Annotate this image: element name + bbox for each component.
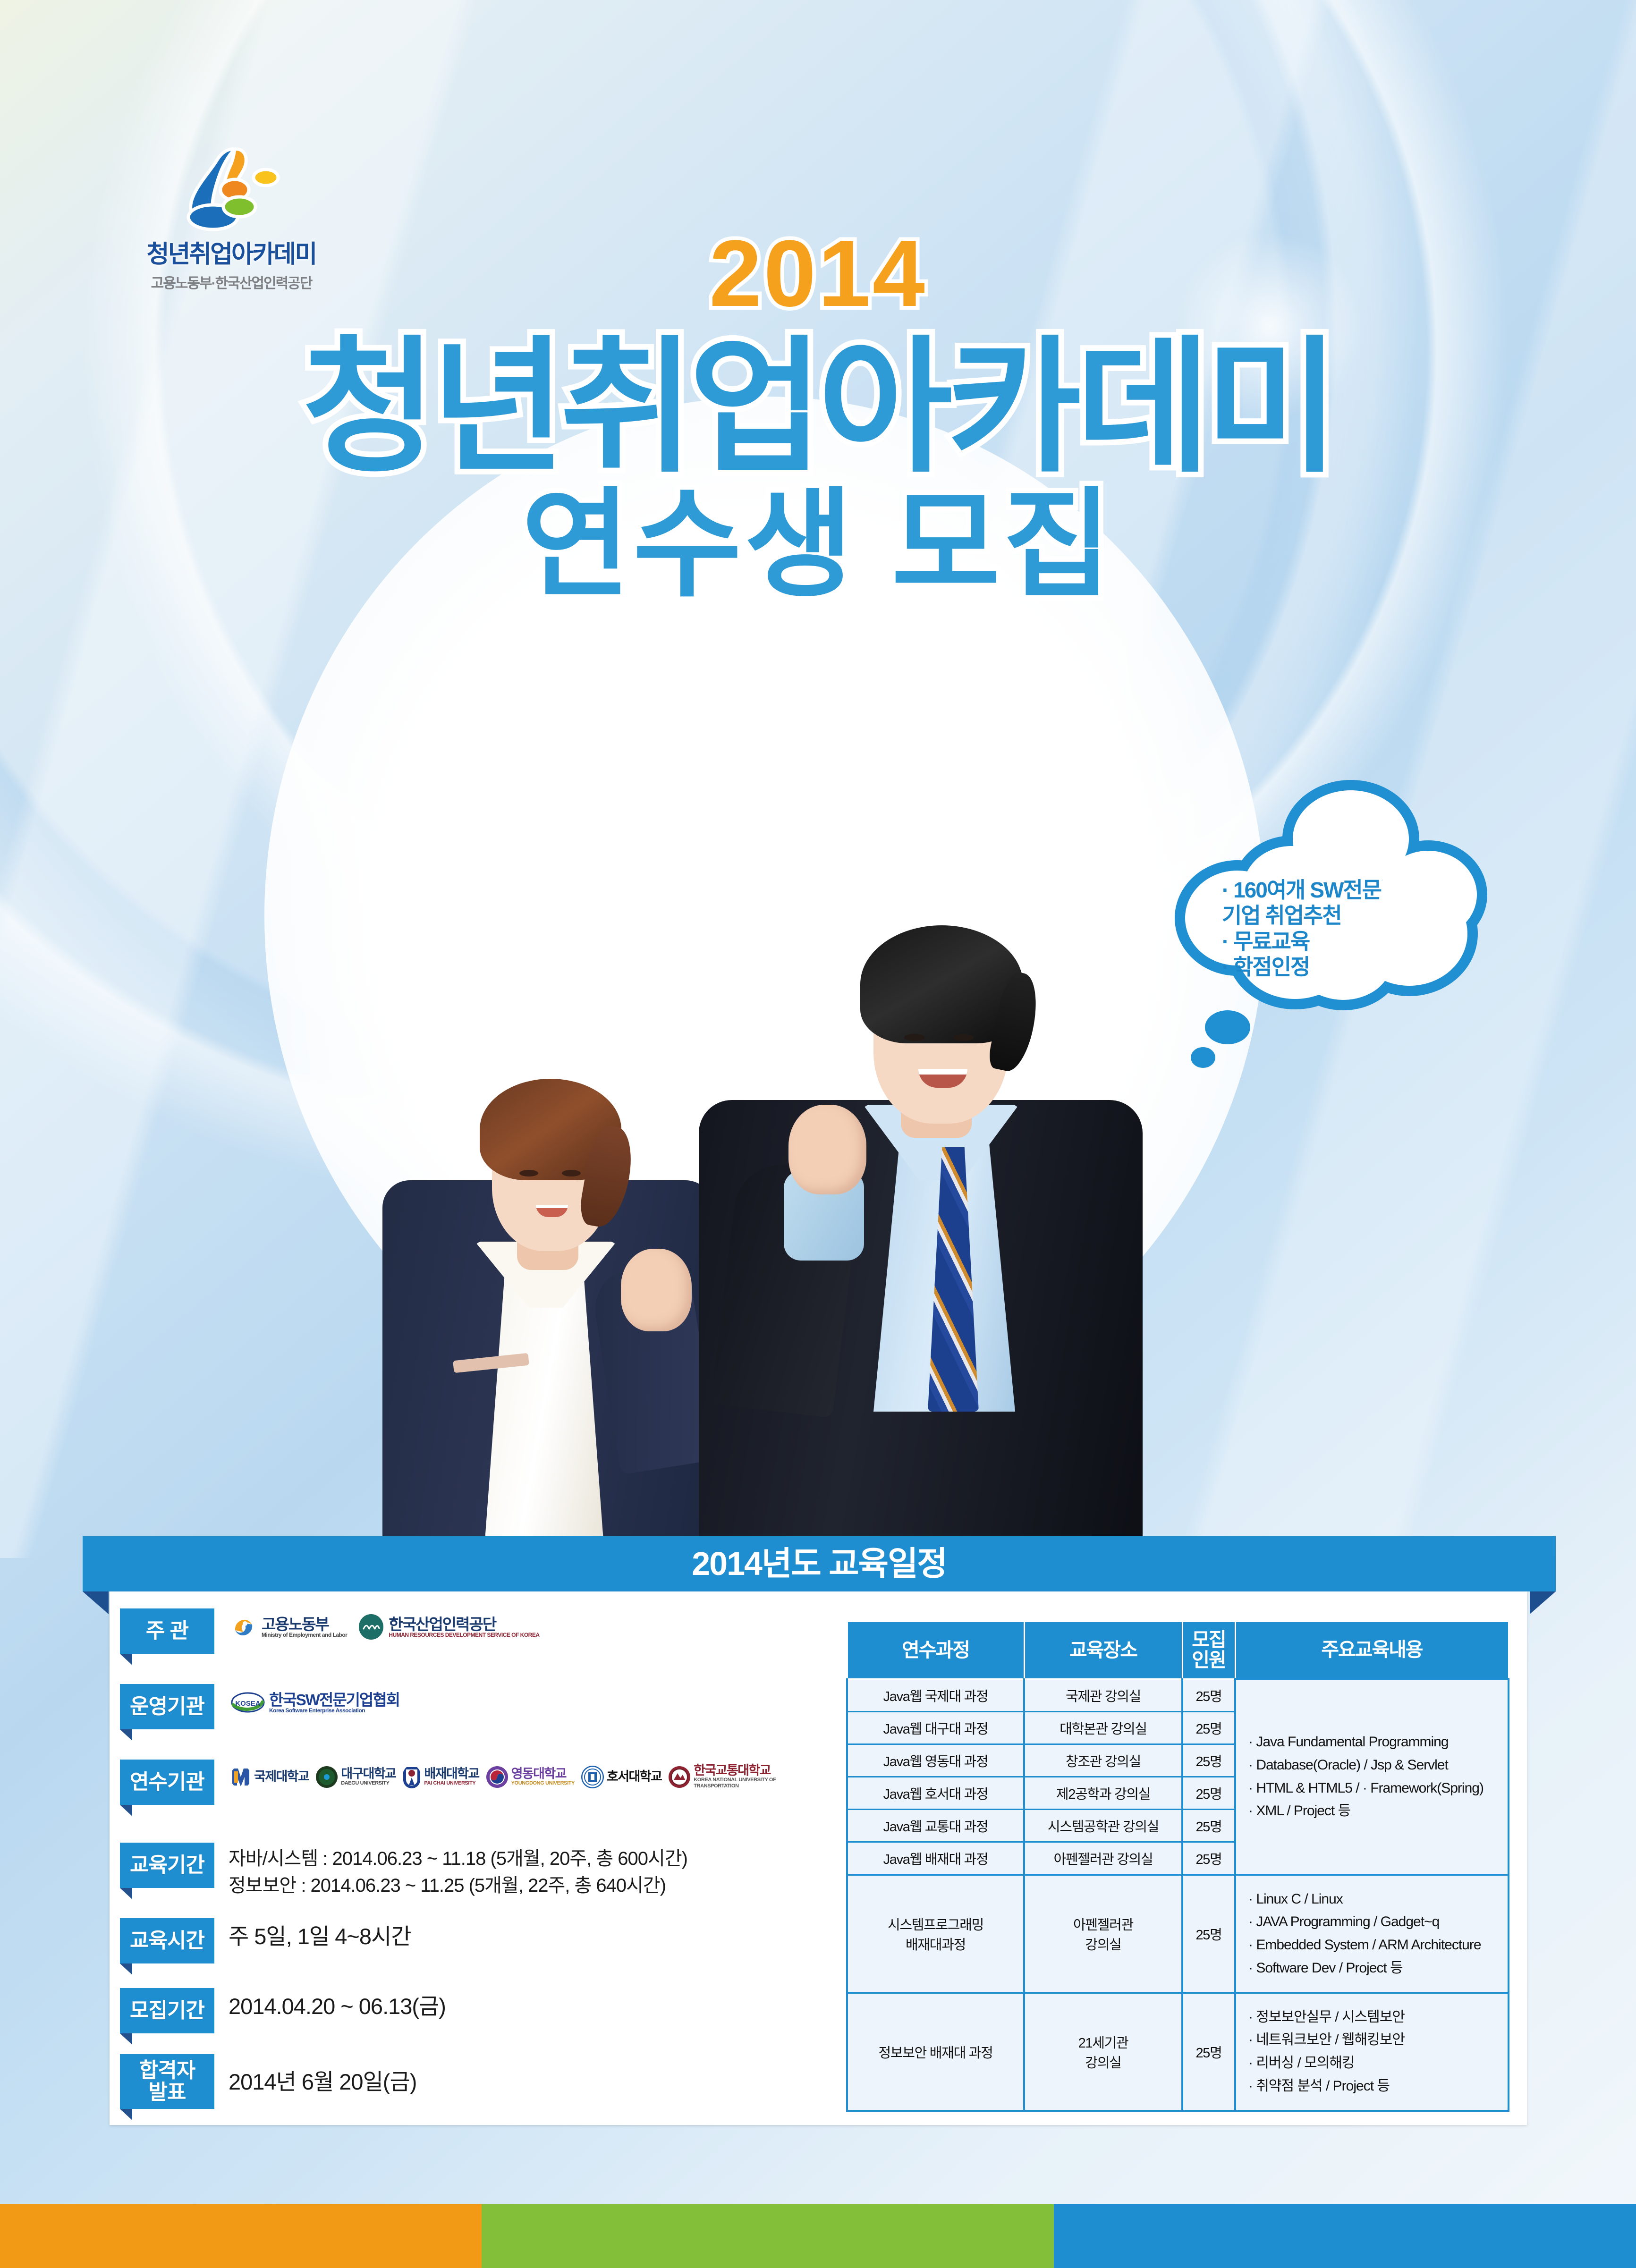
th-capacity: 모집 인원 [1182, 1622, 1235, 1679]
bubble-line-1: 기업 취업추천 [1222, 903, 1425, 928]
education-hours-value: 주 5일, 1일 4~8시간 [229, 1918, 411, 1953]
results-announcement-value: 2014년 6월 20일(금) [229, 2054, 416, 2098]
content-system-2: · Embedded System / ARM Architecture [1248, 1934, 1505, 1957]
students-photo [368, 741, 1199, 1553]
headline-main: 청년취업아카데미 [0, 330, 1636, 484]
content-java-1: · Database(Oracle) / Jsp & Servlet [1248, 1754, 1505, 1777]
info-row-education-period-label: 교육기간 [120, 1843, 214, 1888]
thought-bubble: · 160여개 SW전문 기업 취업추천 · 무료교육 · 학점인정 [1166, 770, 1478, 1072]
logo-kosea: KOSEA 한국SW전문기업협회 Korea Software Enterpri… [230, 1689, 399, 1716]
info-row-education-hours: 교육시간 주 5일, 1일 4~8시간 [120, 1918, 411, 1963]
poster-headline: 2014 청년취업아카데미 연수생 모집 [0, 227, 1636, 609]
person-male [670, 779, 1166, 1553]
academy-swoosh-logo-icon [168, 142, 295, 231]
cell-place: 국제관 강의실 [1024, 1679, 1182, 1711]
content-java-2: · HTML & HTML5 / · Framework(Spring) [1248, 1777, 1505, 1800]
table-header-row: 연수과정 교육장소 모집 인원 주요교육내용 [847, 1622, 1509, 1679]
schedule-header-banner: 2014년도 교육일정 [83, 1536, 1556, 1591]
cell-place-line-2: 강의실 [1028, 2052, 1178, 2072]
info-row-operator-label: 운영기관 [120, 1684, 214, 1729]
logo-hrd-korea: 한국산업인력공단 HUMAN RESOURCES DEVELOPMENT SER… [357, 1613, 539, 1641]
cell-course: Java웹 배재대 과정 [847, 1842, 1024, 1875]
kookje-seal-icon [230, 1766, 251, 1788]
info-row-operator: 운영기관 KOSEA 한국SW전문기업협회 Korea Software Ent… [120, 1684, 399, 1729]
cell-course: Java웹 대구대 과정 [847, 1711, 1024, 1744]
table-row: 정보보안 배재대 과정 21세기관 강의실 25명 · 정보보안실무 / 시스템… [847, 1993, 1509, 2111]
cell-course-line-1: 정보보안 배재대 과정 [851, 2042, 1020, 2062]
transportation-seal-icon [668, 1766, 691, 1788]
uni-3-en: YOUNGDONG UNIVERSITY [511, 1780, 575, 1786]
info-row-training-institutions: 연수기관 국제대학교 [120, 1760, 802, 1805]
info-row-training-label: 연수기관 [120, 1760, 214, 1805]
info-row-education-period: 교육기간 자바/시스템 : 2014.06.23 ~ 11.18 (5개월, 2… [120, 1843, 687, 1899]
headline-year: 2014 [0, 227, 1636, 321]
uni-0-name: 국제대학교 [254, 1770, 309, 1783]
bubble-line-3: · 학점인정 [1222, 954, 1425, 980]
info-rows: 주 관 고용노동부 Ministry of Employment and Lab… [110, 1591, 818, 2125]
paichai-seal-icon [402, 1765, 421, 1789]
logo-hrd-name: 한국산업인력공단 [389, 1616, 539, 1632]
education-period-line-0: 자바/시스템 : 2014.06.23 ~ 11.18 (5개월, 20주, 총… [229, 1845, 687, 1872]
schedule-panel: 주 관 고용노동부 Ministry of Employment and Lab… [110, 1591, 1527, 2125]
cell-place: 21세기관 강의실 [1024, 1993, 1182, 2111]
male-fist [788, 1105, 866, 1194]
uni-3-name: 영동대학교 [511, 1768, 575, 1780]
bubble-benefits-text: · 160여개 SW전문 기업 취업추천 · 무료교육 · 학점인정 [1222, 877, 1425, 980]
content-system-3: · Software Dev / Project 등 [1248, 1957, 1505, 1980]
courses-table: 연수과정 교육장소 모집 인원 주요교육내용 Java웹 국제대 과정 국제관 … [846, 1621, 1509, 2112]
hoseo-seal-icon [581, 1766, 604, 1788]
results-label-line-1: 합격자 [139, 2060, 195, 2082]
headline-sub: 연수생 모집 [0, 480, 1636, 609]
table-row: 시스템프로그래밍 배재대과정 아펜젤러관 강의실 25명 · Linux C /… [847, 1875, 1509, 1993]
cell-capacity: 25명 [1182, 1809, 1235, 1842]
cell-capacity: 25명 [1182, 1875, 1235, 1993]
cell-place: 창조관 강의실 [1024, 1744, 1182, 1777]
host-logos: 고용노동부 Ministry of Employment and Labor 한… [230, 1608, 540, 1641]
operator-logos: KOSEA 한국SW전문기업협회 Korea Software Enterpri… [230, 1684, 399, 1716]
info-row-application-period: 모집기간 2014.04.20 ~ 06.13(금) [120, 1988, 446, 2033]
th-course: 연수과정 [847, 1622, 1024, 1679]
uni-5-name: 한국교통대학교 [694, 1764, 802, 1777]
youngdong-seal-icon [486, 1766, 509, 1788]
cell-place: 시스템공학관 강의실 [1024, 1809, 1182, 1842]
uni-1-name: 대구대학교 [341, 1768, 396, 1780]
cell-place: 제2공학과 강의실 [1024, 1777, 1182, 1809]
cell-capacity: 25명 [1182, 1777, 1235, 1809]
university-logos: 국제대학교 대구대학교 DAEGU UNIVERSITY [230, 1760, 802, 1789]
logo-hoseo-university: 호서대학교 [581, 1766, 661, 1788]
svg-text:KOSEA: KOSEA [235, 1700, 261, 1708]
logo-kookje-university: 국제대학교 [230, 1766, 309, 1788]
info-row-education-hours-label: 교육시간 [120, 1918, 214, 1963]
cell-capacity: 25명 [1182, 1744, 1235, 1777]
logo-youngdong-university: 영동대학교 YOUNGDONG UNIVERSITY [486, 1766, 575, 1788]
cell-capacity: 25명 [1182, 1993, 1235, 2111]
info-row-host-label: 주 관 [120, 1608, 214, 1654]
ribbon-fold-right [1530, 1591, 1556, 1614]
cell-course-line-2: 배재대과정 [851, 1934, 1020, 1954]
cell-course: Java웹 교통대 과정 [847, 1809, 1024, 1842]
content-java-0: · Java Fundamental Programming [1248, 1731, 1505, 1754]
uni-1-en: DAEGU UNIVERSITY [341, 1780, 396, 1786]
content-security-3: · 취약점 분석 / Project 등 [1248, 2075, 1505, 2098]
logo-ministry-of-employment: 고용노동부 Ministry of Employment and Labor [230, 1613, 347, 1641]
education-period-line-1: 정보보안 : 2014.06.23 ~ 11.25 (5개월, 22주, 총 6… [229, 1872, 687, 1899]
info-row-application-period-label: 모집기간 [120, 1988, 214, 2033]
male-eye-right [953, 1034, 974, 1041]
logo-daegu-university: 대구대학교 DAEGU UNIVERSITY [315, 1766, 396, 1788]
cell-place: 대학본관 강의실 [1024, 1711, 1182, 1744]
content-system-0: · Linux C / Linux [1248, 1888, 1505, 1911]
cell-course: 정보보안 배재대 과정 [847, 1993, 1024, 2111]
logo-kosea-name: 한국SW전문기업협회 [269, 1692, 399, 1708]
footer-segment-green [482, 2204, 1054, 2268]
uni-4-name: 호서대학교 [607, 1770, 661, 1783]
daegu-seal-icon [315, 1766, 338, 1788]
content-security-2: · 리버싱 / 모의해킹 [1248, 2052, 1505, 2075]
female-eye-right [562, 1170, 581, 1176]
cell-place-line-1: 아펜젤러관 [1028, 1914, 1178, 1934]
cell-course: Java웹 영동대 과정 [847, 1744, 1024, 1777]
footer-segment-blue [1054, 2204, 1636, 2268]
logo-paichai-university: 배재대학교 PAI CHAI UNIVERSITY [402, 1765, 479, 1789]
uni-2-name: 배재대학교 [424, 1768, 479, 1780]
footer-color-bar [0, 2204, 1636, 2268]
uni-2-en: PAI CHAI UNIVERSITY [424, 1780, 479, 1786]
logo-ministry-name: 고용노동부 [262, 1616, 347, 1632]
logo-ministry-en: Ministry of Employment and Labor [262, 1632, 347, 1638]
cell-place: 아펜젤러관 강의실 [1024, 1875, 1182, 1993]
ribbon-fold-left [83, 1591, 109, 1614]
results-label-line-2: 발표 [149, 2082, 186, 2103]
th-content: 주요교육내용 [1235, 1622, 1509, 1679]
content-security-0: · 정보보안실무 / 시스템보안 [1248, 2006, 1505, 2029]
cell-place-line-2: 강의실 [1028, 1934, 1178, 1954]
content-java-3: · XML / Project 등 [1248, 1800, 1505, 1823]
th-place: 교육장소 [1024, 1622, 1182, 1679]
bubble-tail-large [1205, 1010, 1250, 1044]
cell-course: Java웹 국제대 과정 [847, 1679, 1024, 1711]
uni-5-en: KOREA NATIONAL UNIVERSITY OF TRANSPORTAT… [694, 1777, 802, 1789]
info-row-results-label: 합격자 발표 [120, 2054, 214, 2109]
th-capacity-line-2: 인원 [1185, 1650, 1233, 1670]
logo-korea-national-university-of-transportation: 한국교통대학교 KOREA NATIONAL UNIVERSITY OF TRA… [668, 1764, 802, 1789]
hrd-korea-emblem-icon [357, 1613, 385, 1641]
content-system-1: · JAVA Programming / Gadget~q [1248, 1911, 1505, 1934]
cell-place: 아펜젤러관 강의실 [1024, 1842, 1182, 1875]
poster-canvas: 청년취업아카데미 고용노동부·한국산업인력공단 2014 청년취업아카데미 연수… [0, 0, 1636, 2268]
info-row-host: 주 관 고용노동부 Ministry of Employment and Lab… [120, 1608, 540, 1654]
cell-capacity: 25명 [1182, 1711, 1235, 1744]
cell-course: Java웹 호서대 과정 [847, 1777, 1024, 1809]
table-row: Java웹 국제대 과정 국제관 강의실 25명 · Java Fundamen… [847, 1679, 1509, 1711]
cell-content-java: · Java Fundamental Programming · Databas… [1235, 1679, 1509, 1875]
footer-segment-orange [0, 2204, 482, 2268]
female-eye-left [519, 1170, 538, 1176]
cell-capacity: 25명 [1182, 1679, 1235, 1711]
ministry-emblem-icon [230, 1613, 258, 1641]
content-security-1: · 네트워크보안 / 웹해킹보안 [1248, 2029, 1505, 2052]
schedule-header-title: 2014년도 교육일정 [692, 1545, 947, 1582]
cell-content-security: · 정보보안실무 / 시스템보안 · 네트워크보안 / 웹해킹보안 · 리버싱 … [1235, 1993, 1509, 2111]
cell-course: 시스템프로그래밍 배재대과정 [847, 1875, 1024, 1993]
kosea-emblem-icon: KOSEA [230, 1689, 265, 1716]
bubble-tail-small [1191, 1047, 1215, 1068]
th-capacity-line-1: 모집 [1185, 1630, 1233, 1650]
info-row-results-announcement: 합격자 발표 2014년 6월 20일(금) [120, 2054, 416, 2109]
education-period-value: 자바/시스템 : 2014.06.23 ~ 11.18 (5개월, 20주, 총… [229, 1843, 687, 1899]
cell-content-system: · Linux C / Linux · JAVA Programming / G… [1235, 1875, 1509, 1993]
cell-place-line-1: 21세기관 [1028, 2032, 1178, 2052]
male-eye-left [904, 1034, 925, 1041]
cell-capacity: 25명 [1182, 1842, 1235, 1875]
bubble-line-0: · 160여개 SW전문 [1222, 877, 1425, 903]
application-period-value: 2014.04.20 ~ 06.13(금) [229, 1988, 446, 2023]
logo-hrd-en: HUMAN RESOURCES DEVELOPMENT SERVICE OF K… [389, 1632, 539, 1638]
bubble-line-2: · 무료교육 [1222, 929, 1425, 954]
cell-course-line-1: 시스템프로그래밍 [851, 1914, 1020, 1934]
